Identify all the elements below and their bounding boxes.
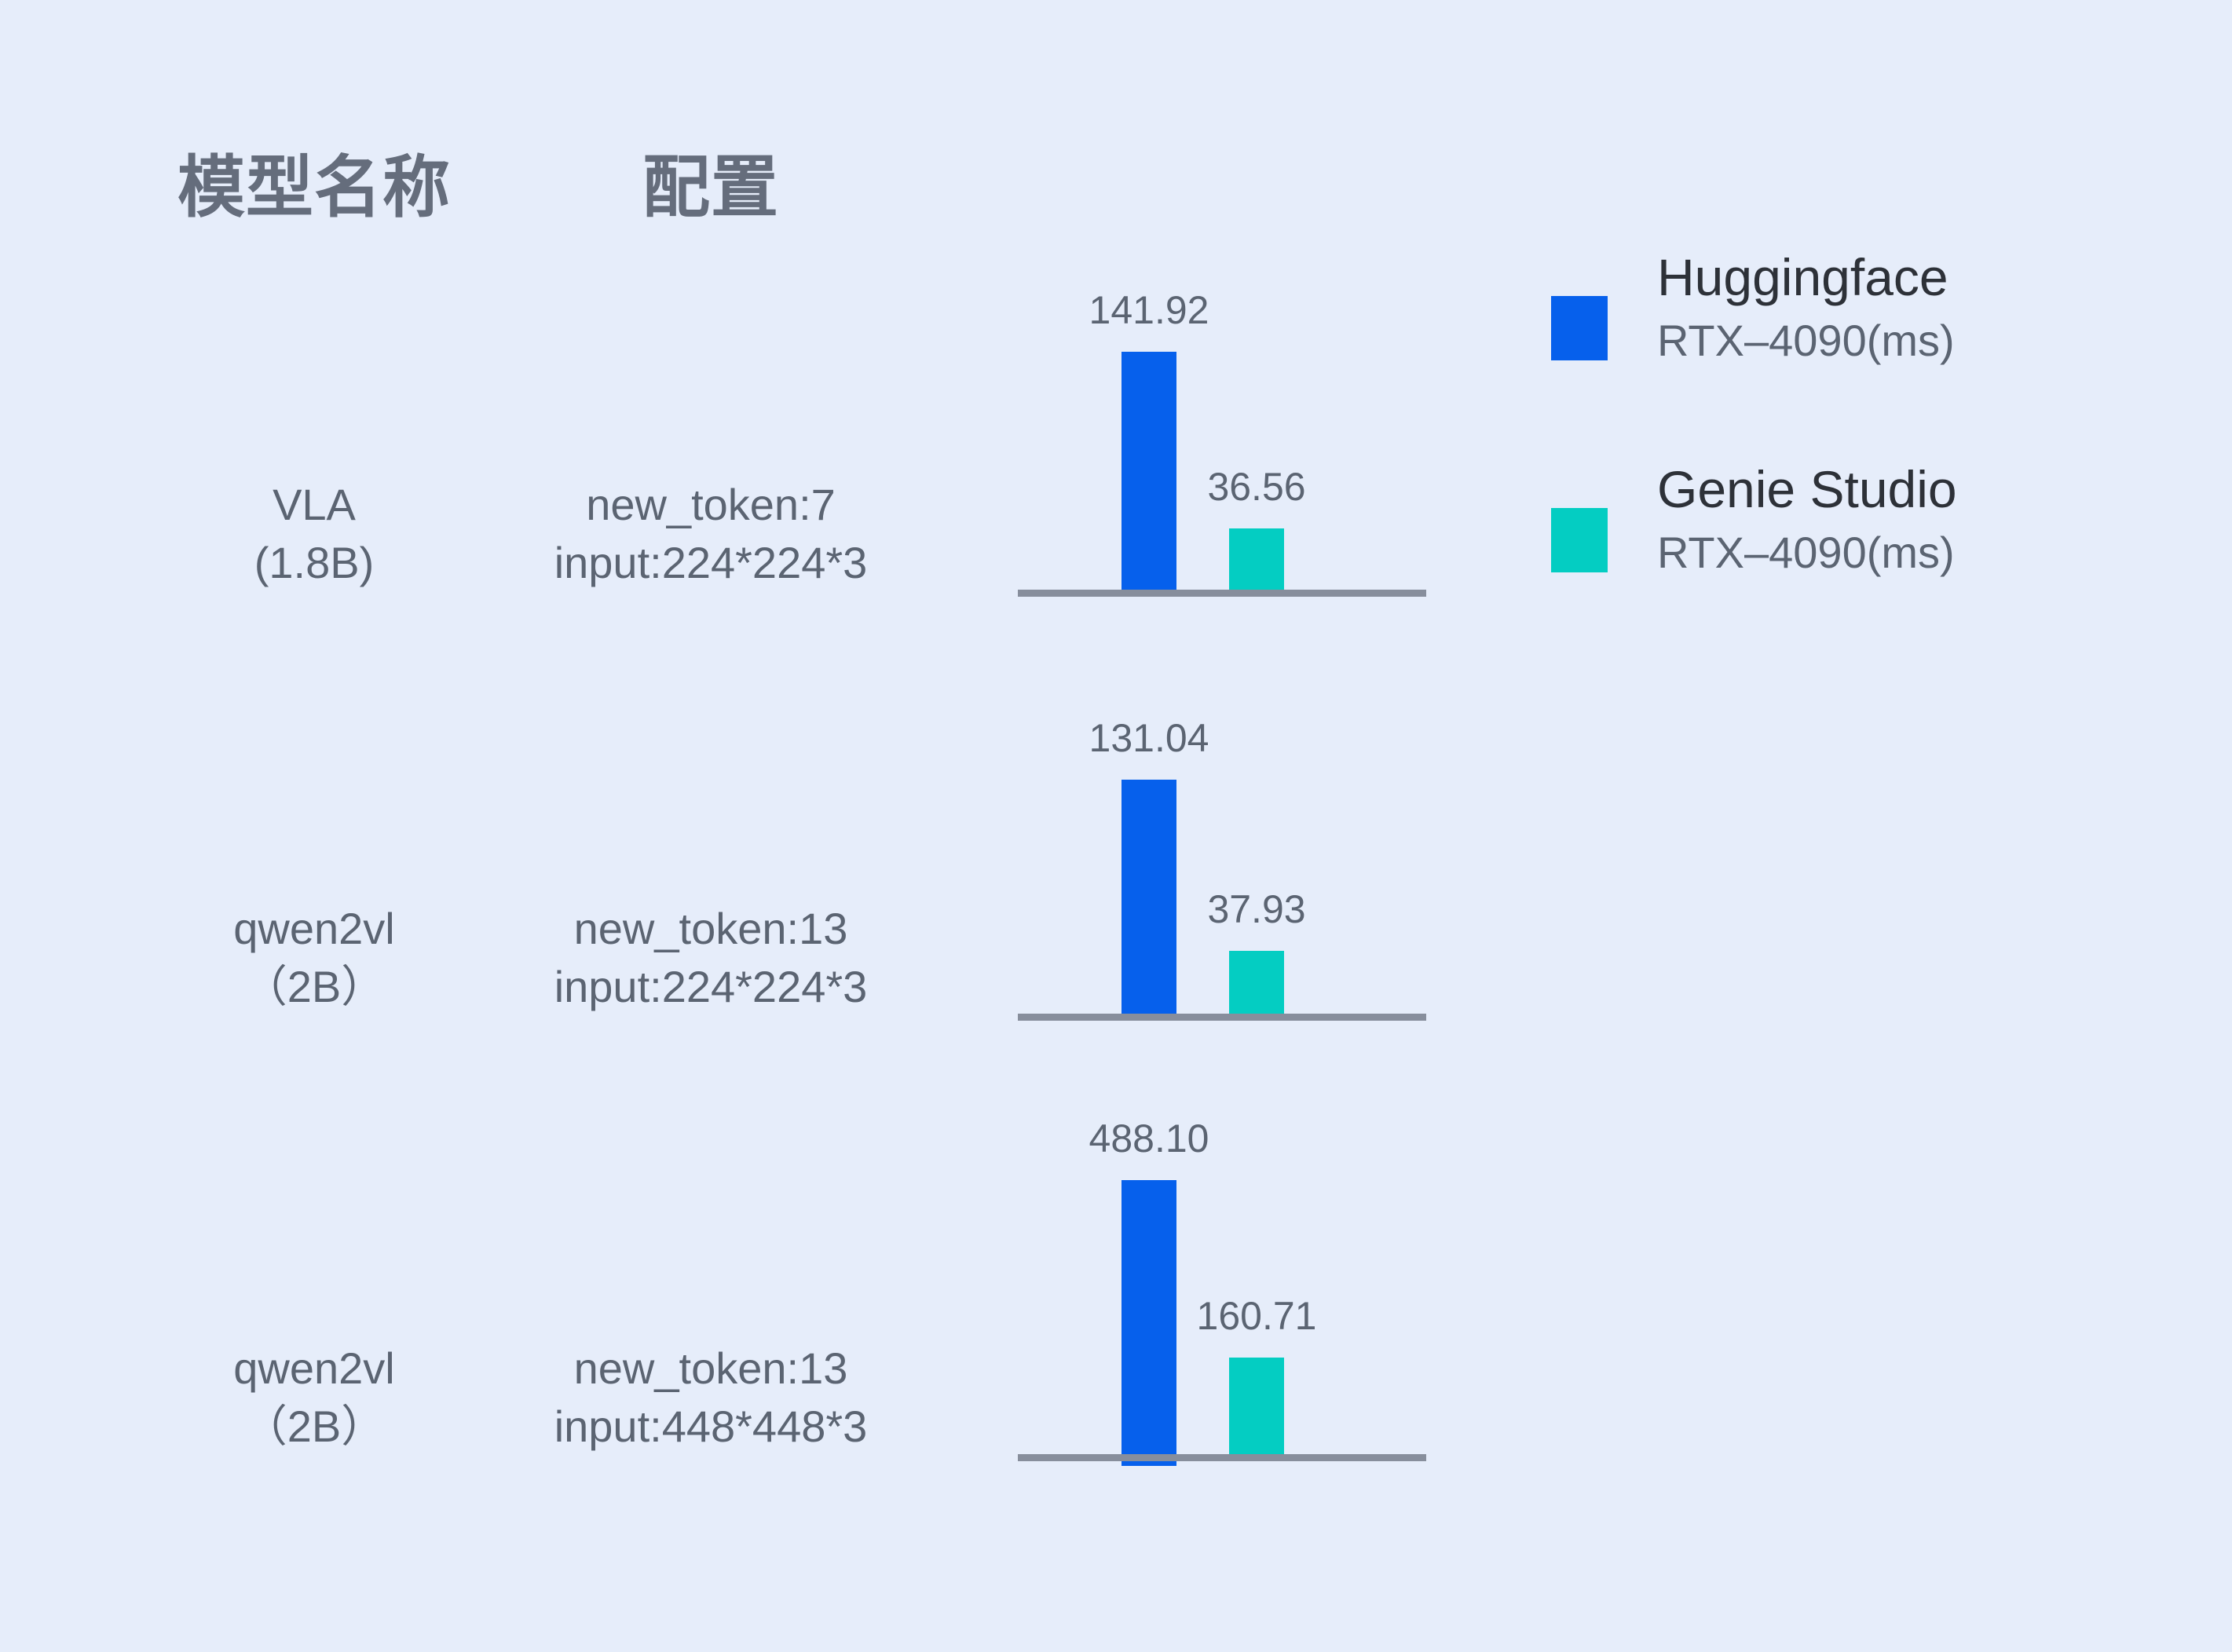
config-new-token: new_token:13 bbox=[554, 1340, 868, 1398]
bar-genie-studio: 37.93 bbox=[1229, 951, 1284, 1014]
legend-label-name: Genie Studio bbox=[1657, 459, 1957, 521]
model-name-line-1: qwen2vl bbox=[233, 900, 394, 958]
legend-item-genie-studio: Genie Studio RTX–4090(ms) bbox=[1551, 459, 2195, 671]
chart-baseline bbox=[1018, 1014, 1426, 1021]
legend-swatch-square-icon bbox=[1551, 296, 1608, 360]
config-new-token: new_token:7 bbox=[554, 476, 868, 534]
bar-chart-panel: 488.10 160.71 bbox=[1018, 1095, 1426, 1461]
column-header-model-name: 模型名称 bbox=[177, 132, 451, 230]
bar-value-huggingface: 141.92 bbox=[1089, 287, 1209, 333]
cell-model-name: VLA (1.8B) bbox=[254, 476, 375, 592]
bar-chart-panel: 141.92 36.56 bbox=[1018, 236, 1426, 597]
cell-config: new_token:7 input:224*224*3 bbox=[554, 476, 868, 592]
legend-label-device: RTX–4090(ms) bbox=[1657, 525, 1957, 580]
bar-genie-studio: 160.71 bbox=[1229, 1358, 1284, 1454]
cell-config: new_token:13 input:448*448*3 bbox=[554, 1340, 868, 1456]
config-input-shape: input:448*448*3 bbox=[554, 1398, 868, 1456]
model-name-line-1: qwen2vl bbox=[233, 1340, 394, 1398]
cell-config: new_token:13 input:224*224*3 bbox=[554, 900, 868, 1016]
legend-text-huggingface: Huggingface RTX–4090(ms) bbox=[1657, 247, 1955, 368]
chart-legend: Huggingface RTX–4090(ms) Genie Studio RT… bbox=[1551, 247, 2195, 671]
bar-huggingface: 131.04 bbox=[1121, 780, 1176, 1014]
cell-model-name: qwen2vl （2B） bbox=[233, 900, 394, 1016]
column-header-config: 配置 bbox=[642, 132, 779, 230]
chart-baseline bbox=[1018, 590, 1426, 597]
chart-canvas: 模型名称 配置 VLA (1.8B) new_token:7 input:224… bbox=[0, 0, 2232, 1652]
config-input-shape: input:224*224*3 bbox=[554, 534, 868, 592]
bar-huggingface: 141.92 bbox=[1121, 352, 1176, 590]
bar-value-huggingface: 488.10 bbox=[1089, 1116, 1209, 1161]
legend-label-name: Huggingface bbox=[1657, 247, 1955, 309]
bar-value-genie-studio: 160.71 bbox=[1197, 1293, 1317, 1339]
model-size-line-2: (1.8B) bbox=[254, 534, 375, 592]
bar-huggingface: 488.10 bbox=[1121, 1180, 1176, 1466]
config-new-token: new_token:13 bbox=[554, 900, 868, 958]
cell-model-name: qwen2vl （2B） bbox=[233, 1340, 394, 1456]
bar-value-genie-studio: 36.56 bbox=[1207, 464, 1305, 510]
model-size-line-2: （2B） bbox=[233, 958, 394, 1016]
model-name-line-1: VLA bbox=[254, 476, 375, 534]
legend-item-huggingface: Huggingface RTX–4090(ms) bbox=[1551, 247, 2195, 459]
bar-value-huggingface: 131.04 bbox=[1089, 715, 1209, 761]
legend-label-device: RTX–4090(ms) bbox=[1657, 313, 1955, 368]
model-size-line-2: （2B） bbox=[233, 1398, 394, 1456]
bar-chart-panel: 131.04 37.93 bbox=[1018, 660, 1426, 1021]
bar-genie-studio: 36.56 bbox=[1229, 528, 1284, 590]
legend-swatch-square-icon bbox=[1551, 508, 1608, 572]
config-input-shape: input:224*224*3 bbox=[554, 958, 868, 1016]
bar-value-genie-studio: 37.93 bbox=[1207, 886, 1305, 932]
legend-text-genie-studio: Genie Studio RTX–4090(ms) bbox=[1657, 459, 1957, 580]
chart-baseline bbox=[1018, 1454, 1426, 1461]
